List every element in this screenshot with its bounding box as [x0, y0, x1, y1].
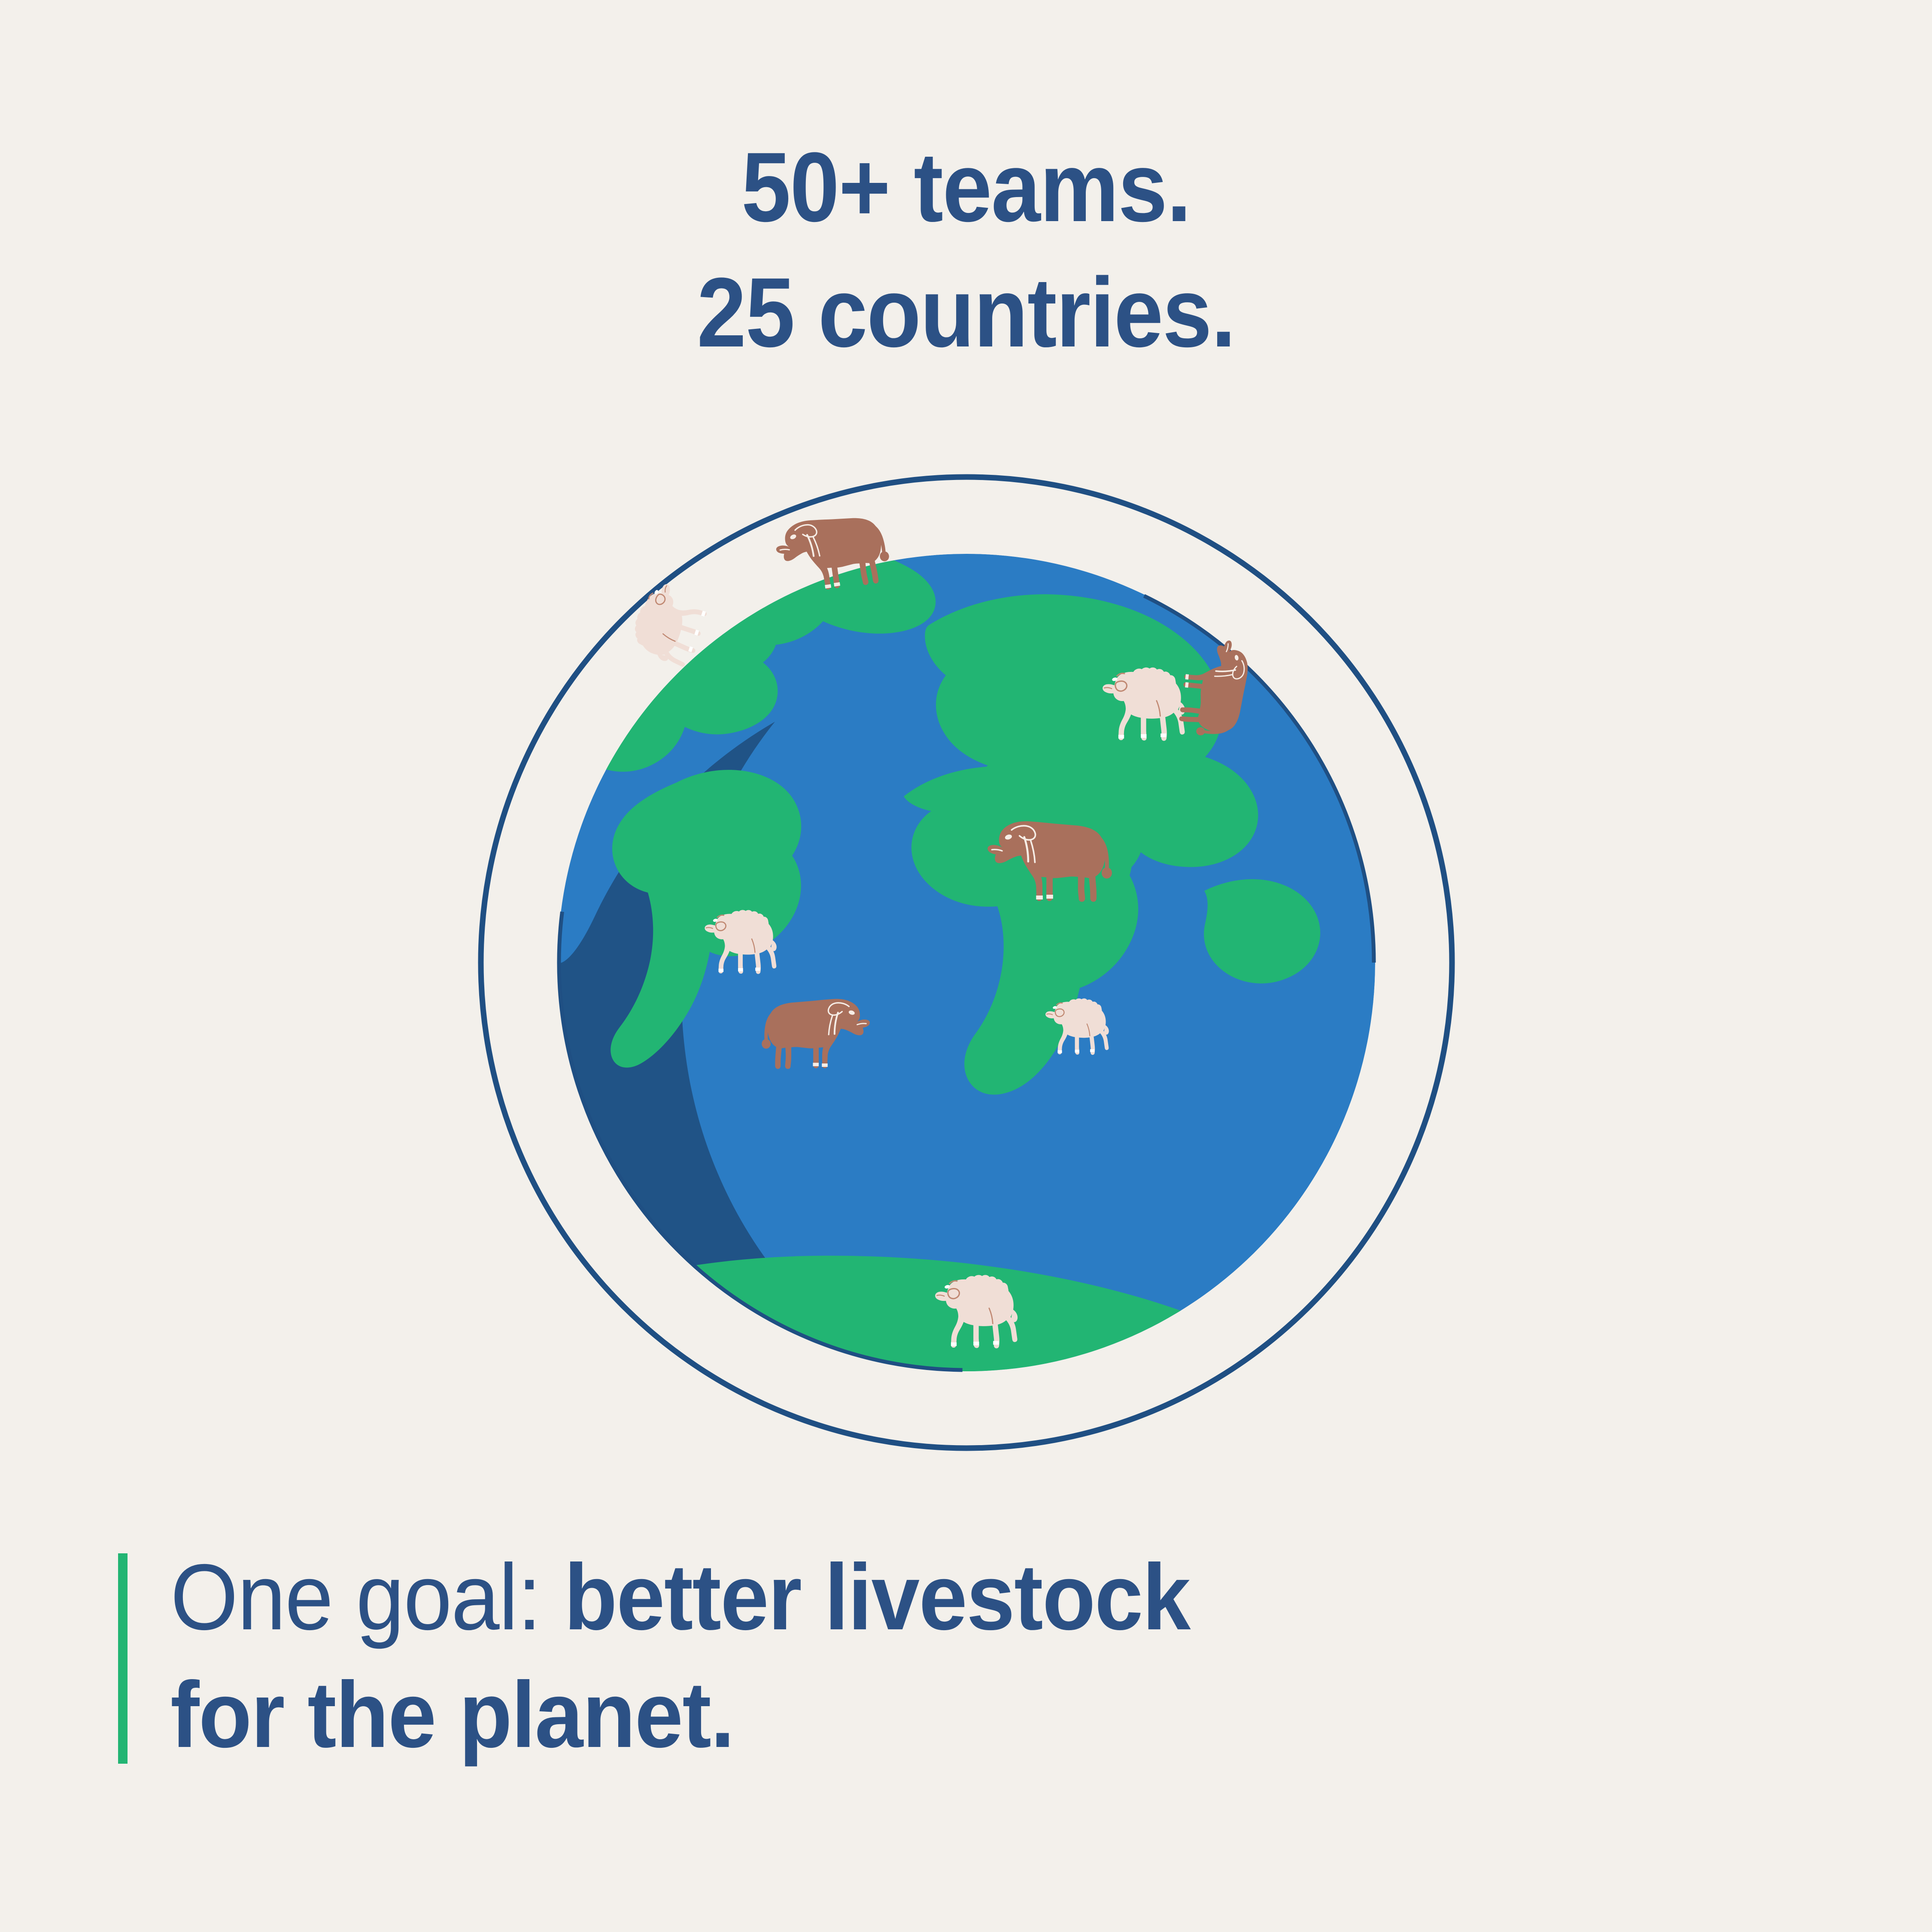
- tagline-lead: One goal:: [170, 1545, 541, 1649]
- poster-canvas: 50+ teams. 25 countries.: [0, 0, 1932, 1932]
- tagline-text: One goal: better livestock for the plane…: [170, 1539, 1648, 1774]
- page-title: 50+ teams. 25 countries.: [97, 125, 1835, 375]
- globe-svg: [474, 470, 1462, 1458]
- tagline-emphasis-2: for the planet.: [170, 1663, 734, 1767]
- tagline-line-1: One goal: better livestock: [170, 1539, 1648, 1656]
- accent-bar: [118, 1553, 128, 1764]
- tagline-line-2: for the planet.: [170, 1656, 1648, 1774]
- globe-illustration: [474, 470, 1462, 1458]
- tagline-emphasis-1: better livestock: [564, 1545, 1190, 1649]
- tagline-block: One goal: better livestock for the plane…: [118, 1550, 1792, 1773]
- headline-line-1: 50+ teams.: [97, 125, 1835, 250]
- headline-line-2: 25 countries.: [97, 250, 1835, 375]
